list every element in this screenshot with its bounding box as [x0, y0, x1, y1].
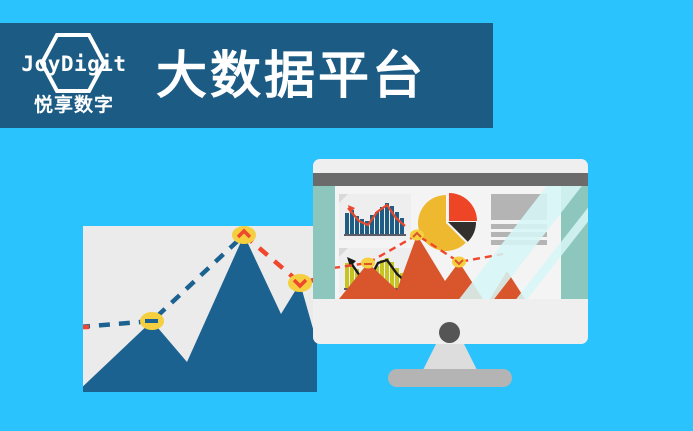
joydigit-logo: JoyDigit 悦享数字	[14, 30, 134, 122]
logo-subtitle: 悦享数字	[14, 90, 134, 117]
data-node-2	[232, 226, 256, 244]
data-node-3	[288, 274, 312, 292]
screen-glare	[313, 186, 588, 299]
header-banner: JoyDigit 悦享数字 大数据平台	[0, 23, 493, 128]
mountain-trend-panel	[83, 226, 317, 392]
mountain-shape	[83, 235, 317, 392]
monitor-stand-base	[388, 369, 512, 387]
data-node-1	[140, 312, 164, 330]
banner-artwork: JoyDigit 悦享数字 大数据平台	[0, 0, 693, 431]
monitor-stand-right-taper	[451, 344, 477, 370]
page-title: 大数据平台	[156, 50, 426, 101]
monitor-screen	[313, 186, 588, 299]
monitor-stand-left-taper	[423, 344, 449, 370]
monitor-top-bar	[313, 173, 588, 186]
camera-dot-icon	[439, 322, 460, 343]
mountain-trend-chart	[83, 226, 317, 392]
logo-wordmark: JoyDigit	[14, 52, 134, 76]
